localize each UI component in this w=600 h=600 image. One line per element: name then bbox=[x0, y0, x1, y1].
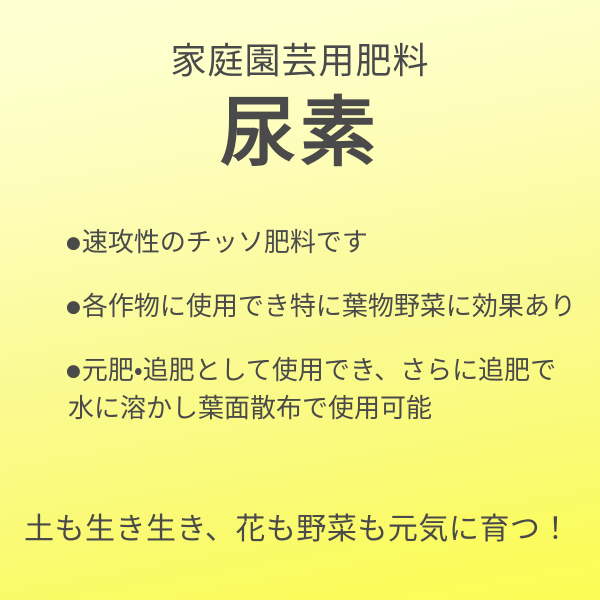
bullet-marker-icon: ● bbox=[66, 361, 81, 381]
bullet-marker-icon: ● bbox=[66, 233, 81, 253]
feature-item: ●元肥・追肥として使用でき、さらに追肥で水に溶かし葉面散布で使用可能 bbox=[68, 352, 580, 428]
feature-item: ●各作物に使用でき特に葉物野菜に効果あり bbox=[68, 288, 580, 326]
feature-list: ●速攻性のチッソ肥料です ●各作物に使用でき特に葉物野菜に効果あり ●元肥・追肥… bbox=[68, 224, 580, 428]
label-header: 家庭園芸用肥料 尿素 bbox=[0, 38, 600, 176]
product-title: 尿素 bbox=[0, 90, 600, 176]
feature-item-text: 各作物に使用でき特に葉物野菜に効果あり bbox=[82, 292, 576, 322]
feature-item-text: 速攻性のチッソ肥料です bbox=[82, 228, 368, 258]
feature-item-text: 元肥・追肥として使用でき、さらに追肥で水に溶かし葉面散布で使用可能 bbox=[68, 356, 556, 424]
tagline: 土も生き生き、花も野菜も元気に育つ！ bbox=[24, 508, 582, 552]
feature-item: ●速攻性のチッソ肥料です bbox=[68, 224, 580, 262]
product-subtitle: 家庭園芸用肥料 bbox=[0, 38, 600, 86]
product-label-card: 家庭園芸用肥料 尿素 ●速攻性のチッソ肥料です ●各作物に使用でき特に葉物野菜に… bbox=[0, 0, 600, 600]
bullet-marker-icon: ● bbox=[66, 297, 81, 317]
